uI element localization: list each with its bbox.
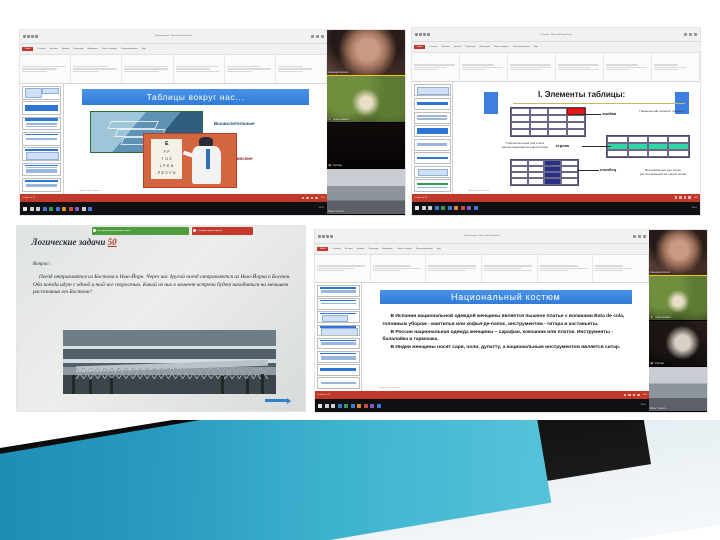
share-indicator-icon	[93, 229, 96, 232]
slide-thumbnail[interactable]	[317, 285, 360, 297]
mute-icon: 🔇	[328, 118, 332, 121]
decoration-pale-band	[100, 420, 720, 540]
eye-chart: E F P T O Z L P E D P E C F D	[151, 139, 182, 179]
windows-taskbar[interactable]: 14:37	[20, 202, 327, 215]
word-icon[interactable]	[351, 404, 355, 408]
ribbon-group-font[interactable]	[122, 55, 173, 83]
ribbon-tab-design[interactable]: Дизайн	[357, 248, 364, 250]
ribbon-tab-transitions[interactable]: Переходы	[73, 48, 83, 50]
slide-thumbnail[interactable]	[317, 298, 360, 310]
eye-chart-row: T O Z	[162, 158, 172, 161]
ribbon-tab-home[interactable]: Главная	[332, 248, 340, 250]
search-icon[interactable]	[325, 404, 329, 408]
quick-access-toolbar[interactable]	[23, 35, 38, 38]
ribbon-tab-file[interactable]: Файл	[414, 45, 425, 49]
leader-line-cell	[574, 114, 601, 115]
ribbon-tab-slideshow[interactable]: Показ слайдов	[397, 248, 412, 250]
slide-body: В Испании национальной одеждой женщины я…	[382, 313, 631, 352]
participant-video	[327, 123, 405, 168]
status-bar: Слайд 3 из 14 58%	[412, 194, 700, 202]
tag-column: столбец	[599, 167, 617, 172]
ribbon-tab-strip[interactable]: Файл Главная Вставка Дизайн Переходы Ани…	[20, 44, 327, 55]
table-column-example	[510, 159, 579, 185]
question-label: Вопрос:	[33, 261, 51, 267]
status-bar: Слайд 5 из 12 62%	[20, 194, 327, 202]
browser-icon[interactable]	[461, 206, 465, 210]
participant-name: 🔇Анна Новико...	[328, 118, 404, 121]
ribbon-group-slides[interactable]	[71, 55, 122, 83]
taskbar-clock[interactable]: 15:02	[641, 404, 646, 406]
participant-name: Альмира Капчик...	[650, 271, 706, 274]
ribbon-tab-insert[interactable]: Вставка	[50, 48, 58, 50]
body-paragraph: В Индии женщины носят сари, чоли, дупатт…	[382, 344, 631, 351]
next-slide-arrow-icon[interactable]	[265, 397, 291, 404]
ribbon-group-paragraph[interactable]	[556, 53, 604, 81]
slide-title-banner: Таблицы вокруг нас...	[82, 89, 308, 104]
slide-heading-text: Логические задачи	[31, 237, 105, 247]
ribbon-group-clipboard[interactable]	[412, 53, 460, 81]
ribbon-tab-review[interactable]: Рецензирование	[513, 46, 530, 48]
ribbon-tab-view[interactable]: Вид	[142, 48, 146, 50]
slide-title-text: I. Элементы таблицы:	[538, 90, 625, 99]
ribbon-tab-file[interactable]: Файл	[22, 47, 33, 51]
ribbon-tab-slideshow[interactable]: Показ слайдов	[494, 46, 509, 48]
ribbon[interactable]	[315, 255, 649, 283]
participant-name: Альмира Капчик...	[328, 71, 404, 74]
slide-thumbnail[interactable]	[22, 178, 62, 192]
caption-row: Горизонтальный ряд ячеек расположенный н…	[498, 142, 552, 150]
participant-tile[interactable]: 🔇Руслан	[649, 321, 707, 367]
screenshot-top-right[interactable]: Таблицы - Microsoft PowerPoint Файл Глав…	[412, 28, 700, 215]
taskbar-clock[interactable]: 14:41	[692, 207, 697, 209]
slide-thumbnail[interactable]	[414, 125, 451, 137]
ribbon-group-editing[interactable]	[593, 255, 649, 282]
excel-icon[interactable]	[344, 404, 348, 408]
mute-icon: 🔇	[650, 316, 654, 319]
question-text: Поезд отправляется из Бостона в Нью-Йорк…	[33, 274, 294, 297]
zoom-screenshare-notifications[interactable]: Вы запустили демонстрацию экрана Останов…	[92, 227, 253, 235]
slide-thumbnail-panel[interactable]	[315, 283, 362, 391]
ribbon-group-drawing[interactable]	[538, 255, 594, 282]
ribbon-tab-transitions[interactable]: Переходы	[465, 46, 475, 48]
participant-video	[649, 230, 707, 275]
work-surface: Национальный костюм В Испании национальн…	[315, 283, 649, 391]
title-bar: Презентация1 - Microsoft PowerPoint	[20, 30, 327, 44]
start-button-icon[interactable]	[318, 404, 322, 408]
stop-share-button[interactable]: Остановить демонстрацию	[192, 227, 254, 235]
body-paragraph: В России национальная одежда женщины – с…	[382, 329, 631, 344]
slide-thumbnail[interactable]	[414, 152, 451, 164]
participant-tile[interactable]: Иван Товарго...	[327, 169, 405, 215]
sharing-status-bar[interactable]: Вы запустили демонстрацию экрана	[92, 227, 189, 235]
ribbon-group-slides[interactable]	[460, 53, 508, 81]
participant-tile[interactable]: Альмира Капчик...	[327, 30, 405, 76]
zoom-level[interactable]: 62%	[321, 197, 325, 199]
windows-taskbar[interactable]: 15:02	[315, 399, 649, 412]
ribbon-tab-review[interactable]: Рецензирование	[121, 48, 138, 50]
taskview-icon[interactable]	[36, 207, 40, 211]
zoom-app-icon[interactable]	[75, 207, 79, 211]
zoom-app-icon[interactable]	[467, 206, 471, 210]
slide-thumbnail[interactable]	[22, 147, 62, 161]
ribbon[interactable]	[412, 53, 700, 82]
powerpoint-window: Таблицы - Microsoft PowerPoint Файл Глав…	[412, 28, 700, 215]
participant-name: Иван Товарго...	[328, 210, 404, 213]
mail-icon[interactable]	[474, 206, 478, 210]
ribbon[interactable]	[20, 55, 327, 84]
participant-name: 🔇Анна Новико...	[650, 316, 706, 319]
view-controls[interactable]	[675, 196, 691, 199]
ribbon-tab-view[interactable]: Вид	[534, 46, 538, 48]
slide-thumbnail[interactable]	[317, 338, 360, 350]
word-icon[interactable]	[448, 206, 452, 210]
ribbon-group-slides[interactable]	[371, 255, 427, 282]
railway-bridge-photo	[63, 330, 276, 395]
presentation-slide: Презентация1 - Microsoft PowerPoint Файл…	[0, 0, 720, 540]
window-controls[interactable]	[311, 35, 324, 38]
slide-counter: Слайд 8 из 16	[317, 394, 330, 396]
participant-tile[interactable]: Альмира Капчик...	[649, 230, 707, 276]
participant-name: Иван Товарго...	[650, 407, 706, 410]
ribbon-tab-home[interactable]: Главная	[429, 46, 437, 48]
participant-video	[649, 367, 707, 412]
ribbon-tab-home[interactable]: Главная	[37, 48, 45, 50]
zoom-participant-rail[interactable]: Альмира Капчик... 🔇Анна Новико... 🔇Русла…	[327, 30, 405, 215]
ribbon-tab-transitions[interactable]: Переходы	[368, 248, 378, 250]
body-paragraph: В Испании национальной одеждой женщины я…	[382, 313, 631, 328]
work-surface: Таблицы вокруг нас... Вычислительные Мед…	[20, 84, 327, 194]
participant-video	[649, 276, 707, 321]
ribbon-group-editing[interactable]	[276, 55, 327, 83]
slide-decoration	[0, 420, 720, 540]
ribbon-group-drawing[interactable]	[225, 55, 276, 83]
caption-cell: Наименьший элемент таблицы	[633, 110, 690, 114]
participant-tile[interactable]: Иван Товарго...	[649, 367, 707, 413]
slide-canvas[interactable]: I. Элементы таблицы: ячейка Наименьший э…	[453, 82, 700, 193]
title-underline	[513, 103, 686, 104]
participant-video	[649, 321, 707, 366]
slide-thumbnail[interactable]	[414, 139, 451, 151]
powerpoint-icon[interactable]	[357, 404, 361, 408]
screenshot-top-left[interactable]: Презентация1 - Microsoft PowerPoint Файл…	[20, 30, 405, 215]
ribbon-group-editing[interactable]	[652, 53, 700, 81]
slide-thumbnail[interactable]	[414, 166, 451, 178]
window-title: Презентация - Microsoft PowerPoint	[464, 235, 500, 237]
medical-illustration: E F P T O Z L P E D P E C F D	[143, 133, 237, 188]
ribbon-tab-view[interactable]: Вид	[437, 248, 441, 250]
ribbon-group-clipboard[interactable]	[315, 255, 371, 282]
screenshot-bottom-right[interactable]: Презентация - Microsoft PowerPoint Файл …	[315, 230, 707, 412]
slide-title-text: Национальный костюм	[451, 292, 560, 302]
view-controls[interactable]	[302, 197, 318, 200]
slide-thumbnail[interactable]	[414, 98, 451, 110]
ribbon-tab-file[interactable]: Файл	[317, 247, 328, 251]
ribbon-tab-slideshow[interactable]: Показ слайдов	[102, 48, 117, 50]
taskbar-clock[interactable]: 14:37	[319, 207, 324, 209]
taskview-icon[interactable]	[331, 404, 335, 408]
start-button-icon[interactable]	[415, 206, 419, 210]
window-controls[interactable]	[633, 235, 646, 238]
eye-chart-row: P E C F D	[158, 172, 176, 175]
slide-thumbnail[interactable]	[414, 84, 451, 96]
slide-thumbnail[interactable]	[22, 86, 62, 100]
title-bar: Таблицы - Microsoft PowerPoint	[412, 28, 700, 42]
table-cell-example	[510, 107, 586, 137]
stop-share-text: Остановить демонстрацию	[197, 230, 222, 232]
slide-thumbnail[interactable]	[317, 364, 360, 376]
slide-title-banner: Национальный костюм	[380, 290, 632, 304]
slide-title: I. Элементы таблицы:	[518, 88, 646, 100]
explorer-icon[interactable]	[435, 206, 439, 210]
participant-name: 🔇Руслан	[328, 164, 404, 167]
mute-icon: 🔇	[328, 164, 332, 167]
powerpoint-window: Презентация1 - Microsoft PowerPoint Файл…	[20, 30, 327, 215]
ribbon-tab-insert[interactable]: Вставка	[345, 248, 353, 250]
slide-thumbnail[interactable]	[414, 112, 451, 124]
ribbon-group-clipboard[interactable]	[20, 55, 71, 83]
ribbon-tab-animation[interactable]: Анимация	[479, 46, 489, 48]
status-bar: Слайд 8 из 16 64%	[315, 391, 649, 399]
ribbon-tab-strip[interactable]: Файл Главная Вставка Дизайн Переходы Ани…	[315, 244, 649, 255]
slide-thumbnail-panel[interactable]	[412, 82, 453, 193]
window-title: Презентация1 - Microsoft PowerPoint	[155, 35, 192, 37]
slide-thumbnail-panel[interactable]	[20, 84, 64, 194]
ribbon-tab-design[interactable]: Дизайн	[62, 48, 69, 50]
slideshow-canvas[interactable]: Вы запустили демонстрацию экрана Останов…	[17, 226, 305, 411]
excel-icon[interactable]	[49, 207, 53, 211]
media-icon[interactable]	[82, 207, 86, 211]
slide-thumbnail[interactable]	[317, 377, 360, 389]
slide-thumbnail[interactable]	[317, 311, 360, 323]
search-icon[interactable]	[422, 206, 426, 210]
slide-thumbnail[interactable]	[22, 132, 62, 146]
participant-video	[327, 169, 405, 214]
participant-name: 🔇Руслан	[650, 362, 706, 365]
label-computational: Вычислительные	[214, 121, 255, 126]
slide-heading-number: 50	[108, 237, 117, 247]
eye-chart-row: E	[165, 142, 168, 147]
participant-tile[interactable]: 🔇Анна Новико...	[649, 276, 707, 322]
slide-thumbnail[interactable]	[317, 325, 360, 337]
notes-placeholder[interactable]: Щелчок для заметок	[80, 190, 101, 192]
ribbon-tab-animation[interactable]: Анимация	[87, 48, 97, 50]
tag-cell: ячейка	[601, 111, 617, 116]
mail-icon[interactable]	[88, 207, 92, 211]
participant-tile[interactable]: 🔇Руслан	[327, 123, 405, 169]
screenshot-bottom-left[interactable]: Вы запустили демонстрацию экрана Останов…	[17, 226, 305, 411]
slide-thumbnail[interactable]	[317, 351, 360, 363]
slide-thumbnail[interactable]	[414, 179, 451, 191]
eye-chart-row: F P	[164, 151, 170, 154]
slide-counter: Слайд 3 из 14	[414, 197, 427, 199]
powerpoint-window: Презентация - Microsoft PowerPoint Файл …	[315, 230, 649, 412]
explorer-icon[interactable]	[43, 207, 47, 211]
ribbon-tab-strip[interactable]: Файл Главная Вставка Дизайн Переходы Ани…	[412, 42, 700, 53]
word-icon[interactable]	[56, 207, 60, 211]
table-row-example	[606, 135, 689, 158]
participant-tile[interactable]: 🔇Анна Новико...	[327, 76, 405, 122]
ribbon-group-drawing[interactable]	[604, 53, 652, 81]
ribbon-tab-animation[interactable]: Анимация	[382, 248, 392, 250]
eye-chart-row: L P E D	[160, 165, 174, 168]
decoration-teal-band	[0, 420, 551, 540]
title-bar: Презентация - Microsoft PowerPoint	[315, 230, 649, 244]
explorer-icon[interactable]	[338, 404, 342, 408]
notes-placeholder[interactable]: Щелчок для заметок	[468, 190, 489, 192]
ribbon-group-font[interactable]	[508, 53, 556, 81]
zoom-app-icon[interactable]	[370, 404, 374, 408]
doctor-figure	[190, 137, 231, 183]
browser-icon[interactable]	[69, 207, 73, 211]
work-surface: I. Элементы таблицы: ячейка Наименьший э…	[412, 82, 700, 193]
mail-icon[interactable]	[377, 404, 381, 408]
taskview-icon[interactable]	[428, 206, 432, 210]
excel-icon[interactable]	[441, 206, 445, 210]
quick-access-toolbar[interactable]	[415, 33, 430, 36]
slide-thumbnail[interactable]	[22, 101, 62, 115]
tag-row: строка	[555, 143, 570, 148]
slide-canvas[interactable]: Таблицы вокруг нас... Вычислительные Мед…	[64, 84, 327, 194]
ribbon-tab-insert[interactable]: Вставка	[442, 46, 450, 48]
start-button-icon[interactable]	[23, 207, 27, 211]
powerpoint-icon[interactable]	[62, 207, 66, 211]
zoom-participant-rail[interactable]: Альмира Капчик... 🔇Анна Новико... 🔇Русла…	[649, 230, 707, 412]
leader-line-column	[577, 170, 599, 171]
leader-line-row	[582, 146, 612, 147]
slide-title-text: Таблицы вокруг нас...	[147, 92, 245, 102]
ribbon-group-paragraph[interactable]	[482, 255, 538, 282]
window-controls[interactable]	[684, 33, 697, 36]
mute-icon: 🔇	[650, 362, 654, 365]
participant-video	[327, 30, 405, 75]
slide-heading: Логические задачи 50	[31, 237, 116, 247]
zoom-level[interactable]: 64%	[643, 394, 647, 396]
powerpoint-icon[interactable]	[454, 206, 458, 210]
participant-video	[327, 76, 405, 121]
view-controls[interactable]	[624, 394, 640, 397]
slide-thumbnail[interactable]	[22, 117, 62, 131]
sharing-status-text: Вы запустили демонстрацию экрана	[97, 230, 131, 232]
search-icon[interactable]	[30, 207, 34, 211]
windows-taskbar[interactable]: 14:41	[412, 202, 700, 215]
window-title: Таблицы - Microsoft PowerPoint	[540, 34, 572, 36]
ribbon-group-paragraph[interactable]	[174, 55, 225, 83]
quick-access-toolbar[interactable]	[318, 235, 333, 238]
slide-thumbnail[interactable]	[22, 163, 62, 177]
zoom-level[interactable]: 58%	[694, 197, 698, 199]
caption-column: Вертикальный ряд ячеек расположенный на …	[633, 169, 692, 177]
ribbon-group-font[interactable]	[426, 255, 482, 282]
slide-counter: Слайд 5 из 12	[22, 197, 35, 199]
slide-canvas[interactable]: Национальный костюм В Испании национальн…	[362, 283, 649, 391]
ribbon-tab-design[interactable]: Дизайн	[454, 46, 461, 48]
notes-placeholder[interactable]: Щелчок для заметок	[380, 387, 401, 389]
ribbon-tab-review[interactable]: Рецензирование	[416, 248, 433, 250]
browser-icon[interactable]	[364, 404, 368, 408]
decor-block-left	[484, 92, 498, 113]
decoration-dark-band	[0, 420, 651, 540]
stop-icon	[193, 229, 196, 232]
